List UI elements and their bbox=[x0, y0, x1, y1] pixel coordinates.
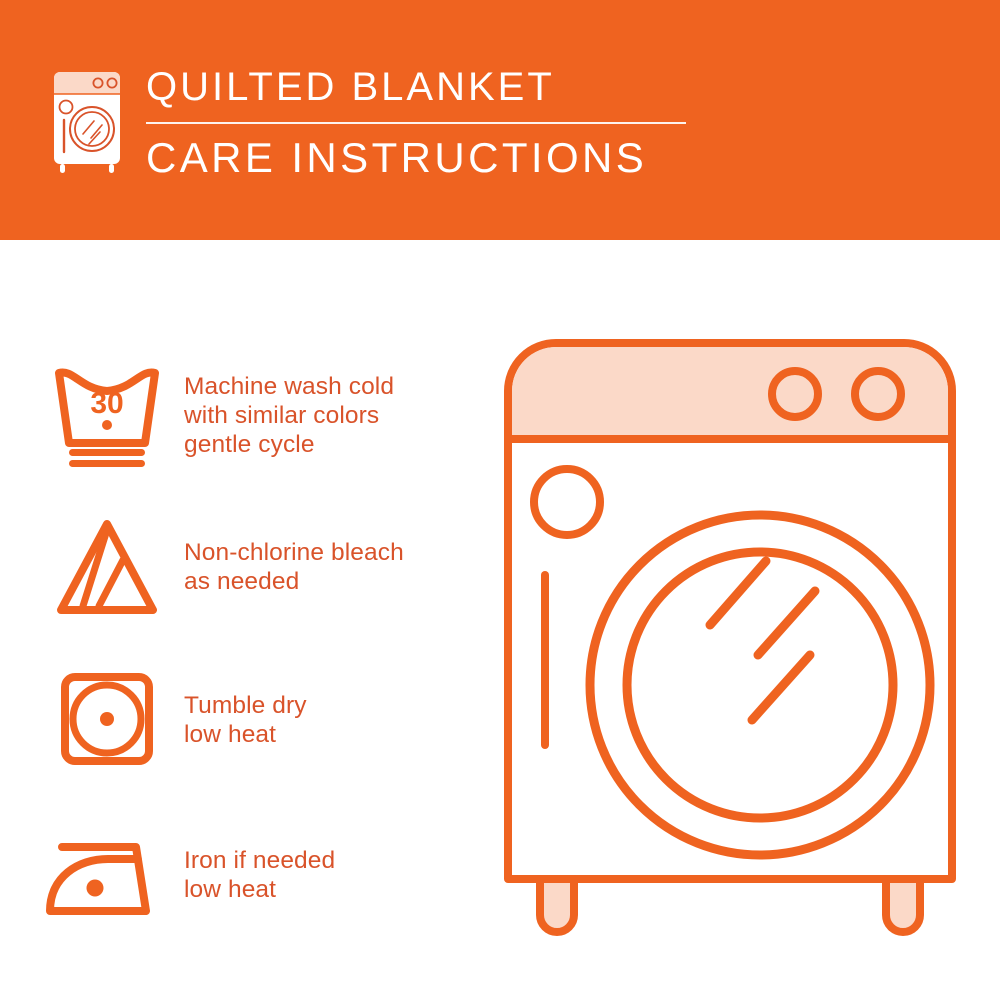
iron-icon bbox=[42, 815, 172, 935]
control-panel bbox=[512, 347, 948, 439]
page-title-secondary: CARE INSTRUCTIONS bbox=[146, 132, 706, 184]
wash-tub-icon: 30 bbox=[42, 355, 172, 475]
title-divider bbox=[146, 122, 686, 124]
care-instruction-list: 30 Machine wash cold with similar colors… bbox=[0, 240, 490, 1000]
washing-machine-icon bbox=[44, 66, 136, 176]
leg-left bbox=[540, 879, 574, 932]
tumble-dry-icon bbox=[42, 660, 172, 780]
bleach-triangle-icon bbox=[42, 507, 172, 627]
page-title-primary: QUILTED BLANKET bbox=[146, 62, 706, 112]
list-item-label: Iron if needed low heat bbox=[184, 846, 335, 904]
list-item-label: Machine wash cold with similar colors ge… bbox=[184, 372, 394, 459]
care-instructions-page: QUILTED BLANKET CARE INSTRUCTIONS 30 Mac… bbox=[0, 0, 1000, 1000]
washing-machine-illustration bbox=[490, 325, 970, 945]
list-item-label: Tumble dry low heat bbox=[184, 691, 307, 749]
list-item: 30 Machine wash cold with similar colors… bbox=[0, 340, 490, 490]
leg-right bbox=[886, 879, 920, 932]
wash-temperature-value: 30 bbox=[90, 387, 123, 420]
list-item: Iron if needed low heat bbox=[0, 800, 490, 950]
list-item-label: Non-chlorine bleach as needed bbox=[184, 538, 404, 596]
page-header: QUILTED BLANKET CARE INSTRUCTIONS bbox=[0, 0, 1000, 240]
header-title-block: QUILTED BLANKET CARE INSTRUCTIONS bbox=[146, 62, 706, 184]
list-item: Non-chlorine bleach as needed bbox=[0, 492, 490, 642]
list-item: Tumble dry low heat bbox=[0, 645, 490, 795]
